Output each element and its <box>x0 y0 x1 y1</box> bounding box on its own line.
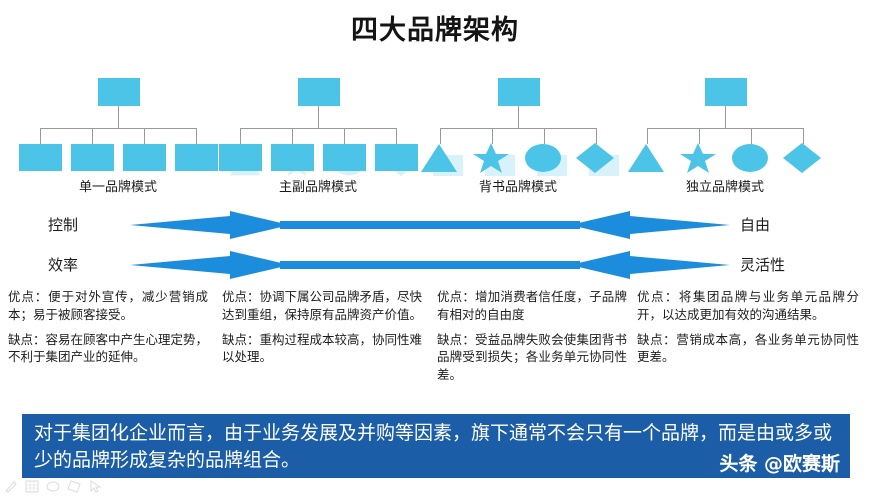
leaf-node <box>575 144 618 174</box>
root-node-rectangle <box>705 78 747 106</box>
summary-banner: 对于集团化企业而言，由于业务发展及并购等因素，旗下通常不会只有一个品牌，而是由或… <box>22 414 850 478</box>
spectrum-axis-control-freedom: 控制 自由 <box>0 210 870 244</box>
connector-drop <box>92 128 93 144</box>
axis-left-label-efficiency: 效率 <box>48 254 78 275</box>
diagram-label-master-sub-brand: 主副品牌模式 <box>218 176 418 195</box>
leaf-node <box>471 144 514 174</box>
leaf-row <box>218 144 418 178</box>
spectrum-axis-efficiency-flexibility: 效率 灵活性 <box>0 250 870 284</box>
triangle-icon <box>626 142 666 174</box>
rectangle-shape <box>271 144 314 171</box>
circle-icon <box>523 142 563 174</box>
root-node-rectangle <box>98 78 140 106</box>
leaf-node <box>678 144 721 174</box>
leaf-node <box>375 144 418 174</box>
leaf-node <box>626 144 669 174</box>
diagram-single-brand: 单一品牌模式 <box>18 72 218 192</box>
diagram-label-independent-brand: 独立品牌模式 <box>625 176 825 195</box>
connector-horizontal <box>240 128 397 129</box>
diamond-icon <box>782 142 822 174</box>
leaf-row <box>418 144 618 178</box>
column-single-brand: 优点：便于对外宣传，减少营销成本；易于被顾客接受。 缺点：容易在顾客中产生心理定… <box>8 288 208 373</box>
column-independent-brand: 优点：将集团品牌与业务单元品牌分开，以达成更加有效的沟通结果。 缺点：营销成本高… <box>637 288 859 373</box>
leaf-node <box>71 144 114 174</box>
root-node-rectangle <box>498 78 540 106</box>
leaf-node <box>730 144 773 174</box>
connector-drop <box>144 128 145 144</box>
connector-drop <box>196 128 197 144</box>
ellipse-icon[interactable] <box>46 480 60 493</box>
connector-vertical <box>118 106 119 128</box>
grid-icon[interactable] <box>25 480 39 493</box>
connector-drop <box>396 128 397 144</box>
con-text: 缺点：重构过程成本较高，协同性难以处理。 <box>222 331 422 367</box>
cursor-icon[interactable] <box>88 480 102 493</box>
pro-text: 优点：协调下属公司品牌矛盾，尽快达到重组，保持原有品牌资产价值。 <box>222 288 422 324</box>
rectangle-shape <box>19 144 62 171</box>
diagram-endorsed-brand: 背书品牌模式 <box>418 72 618 192</box>
leaf-node <box>419 144 462 174</box>
pro-text: 优点：将集团品牌与业务单元品牌分开，以达成更加有效的沟通结果。 <box>637 288 859 324</box>
circle-icon <box>730 142 770 174</box>
connector-drop <box>344 128 345 144</box>
diagram-label-single-brand: 单一品牌模式 <box>18 176 218 195</box>
rectangle-shape <box>71 144 114 171</box>
page-title: 四大品牌架构 <box>0 8 870 47</box>
connector-drop <box>292 128 293 144</box>
brand-architecture-diagrams: 单一品牌模式 <box>0 72 870 192</box>
watermark-label: 头条 @欧赛斯 <box>719 449 840 476</box>
pro-text: 优点：便于对外宣传，减少营销成本；易于被顾客接受。 <box>8 288 208 324</box>
slide-canvas: 四大品牌架构 <box>0 0 870 495</box>
connector-drop <box>40 128 41 144</box>
diamond-icon <box>575 142 615 174</box>
spectrum-arrows: 控制 自由 效率 <box>0 206 870 284</box>
pen-icon[interactable] <box>4 480 18 493</box>
connector-horizontal <box>440 128 597 129</box>
rectangle-shape <box>375 144 418 171</box>
leaf-node <box>123 144 166 174</box>
axis-right-label-flexibility: 灵活性 <box>740 254 785 275</box>
annotation-toolbar[interactable] <box>4 480 102 493</box>
leaf-node <box>523 144 566 174</box>
diagram-label-endorsed-brand: 背书品牌模式 <box>418 176 618 195</box>
axis-right-label-freedom: 自由 <box>740 214 770 235</box>
con-text: 缺点：营销成本高，各业务单元协同性更差。 <box>637 331 859 367</box>
triangle-icon <box>419 142 459 174</box>
connector-vertical <box>318 106 319 128</box>
diagram-independent-brand: 独立品牌模式 <box>625 72 825 192</box>
column-master-sub-brand: 优点：协调下属公司品牌矛盾，尽快达到重组，保持原有品牌资产价值。 缺点：重构过程… <box>222 288 422 373</box>
con-text: 缺点：受益品牌失败会使集团背书品牌受到损失；各业务单元协同性差。 <box>437 331 627 384</box>
connector-vertical <box>518 106 519 128</box>
leaf-node <box>782 144 825 174</box>
connector-horizontal <box>40 128 197 129</box>
double-arrow-icon <box>130 250 730 280</box>
double-arrow-icon <box>130 210 730 240</box>
summary-banner-text: 对于集团化企业而言，由于业务发展及并购等因素，旗下通常不会只有一个品牌，而是由或… <box>34 420 836 474</box>
diagram-master-sub-brand: 主副品牌模式 <box>218 72 418 192</box>
column-endorsed-brand: 优点：增加消费者信任度，子品牌有相对的自由度 缺点：受益品牌失败会使集团背书品牌… <box>437 288 627 391</box>
leaf-node <box>175 144 218 174</box>
rectangle-shape <box>219 144 262 171</box>
star-icon <box>471 142 511 174</box>
con-text: 缺点：容易在顾客中产生心理定势，不利于集团产业的延伸。 <box>8 331 208 367</box>
connector-drop <box>240 128 241 144</box>
axis-left-label-control: 控制 <box>48 214 78 235</box>
connector-horizontal <box>647 128 804 129</box>
rectangle-shape <box>175 144 218 171</box>
pros-cons-columns: 优点：便于对外宣传，减少营销成本；易于被顾客接受。 缺点：容易在顾客中产生心理定… <box>0 288 870 400</box>
leaf-node <box>271 144 314 174</box>
leaf-node <box>19 144 62 174</box>
pro-text: 优点：增加消费者信任度，子品牌有相对的自由度 <box>437 288 627 324</box>
connector-vertical <box>725 106 726 128</box>
leaf-node <box>323 144 366 174</box>
leaf-row <box>18 144 218 178</box>
rectangle-shape <box>123 144 166 171</box>
rectangle-shape <box>323 144 366 171</box>
star-icon <box>678 142 718 174</box>
root-node-rectangle <box>298 78 340 106</box>
leaf-node <box>219 144 262 174</box>
leaf-row <box>625 144 825 178</box>
shape-icon[interactable] <box>67 480 81 493</box>
